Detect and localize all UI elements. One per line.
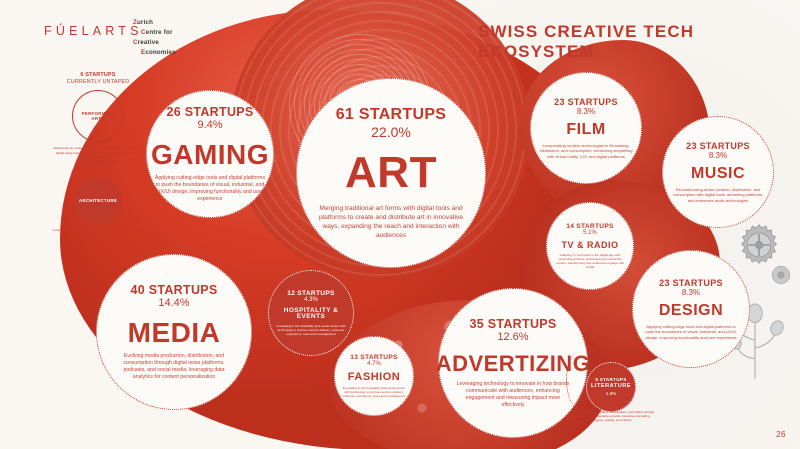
- bubble-percent: 8.3%: [682, 288, 700, 298]
- satellite-caption: 2 STARTUPS 0.7%: [44, 160, 152, 174]
- bubble-label: GAMING: [151, 140, 269, 169]
- bubble-count: 14 STARTUPS: [566, 223, 614, 230]
- satellite-count: 2 STARTUPS: [44, 160, 152, 167]
- bubble-description: Adapting TV and radio to the digital age…: [553, 253, 627, 269]
- satellite-description: Enhancing the creation and presentation …: [44, 146, 152, 159]
- bubble-description: Innovating in the hospitality and events…: [341, 386, 407, 398]
- bubble-art[interactable]: 61 STARTUPS 22.0% ART Merging traditiona…: [296, 78, 486, 268]
- gear-icon: [736, 222, 782, 268]
- satellite-caption: 6 STARTUPS CURRENTLY UNTAPED: [44, 72, 152, 86]
- partner-logo: ZZurichurich Centre for Creative Economi…: [133, 18, 176, 58]
- bubble-description: Innovating in the hospitality and events…: [275, 324, 347, 336]
- bubble-percent: 1.8%: [606, 391, 616, 397]
- slide-header: FÚELARTS ZZurichurich Centre for Creativ…: [0, 0, 800, 56]
- slide-canvas: FÚELARTS ZZurichurich Centre for Creativ…: [0, 0, 800, 449]
- bubble-percent: 4.7%: [367, 361, 381, 369]
- bubble-count: 35 STARTUPS: [469, 317, 556, 331]
- satellite-architecture: 2 STARTUPS 0.7% ARCHITECTURE revolutioni…: [44, 160, 152, 237]
- gear-small-icon: [768, 262, 794, 288]
- bubble-count: 23 STARTUPS: [554, 97, 618, 107]
- bubble-label: ART: [345, 150, 437, 196]
- bubble-count: 40 STARTUPS: [130, 283, 217, 297]
- bubble-label: FILM: [566, 122, 605, 139]
- satellite-bubble-architecture[interactable]: ARCHITECTURE: [75, 178, 121, 224]
- bubble-percent: 22.0%: [371, 124, 411, 142]
- bubble-literature[interactable]: 5 STARTUPS LITERATURE 1.8%: [586, 362, 636, 412]
- bubble-percent: 8.3%: [709, 151, 727, 161]
- bubble-percent: 9.4%: [197, 119, 222, 133]
- bubble-label: LITERATURE: [591, 384, 631, 390]
- bubble-music[interactable]: 23 STARTUPS 8.3% MUSIC Revolutionizing m…: [662, 116, 774, 228]
- satellite-subcaption: CURRENTLY UNTAPED: [44, 79, 152, 86]
- bubble-hospitality-events[interactable]: 12 STARTUPS 4.3% HOSPITALITY & EVENTS In…: [268, 270, 354, 356]
- satellite-subcaption: 0.7%: [44, 167, 152, 174]
- bubble-count: 23 STARTUPS: [686, 141, 750, 151]
- satellite-performing-arts: 6 STARTUPS CURRENTLY UNTAPED PERFORMING …: [44, 72, 152, 159]
- bubble-media[interactable]: 40 STARTUPS 14.4% MEDIA Evolving media p…: [96, 254, 252, 410]
- bubble-label: TV & RADIO: [561, 241, 618, 250]
- bubble-percent: 12.6%: [497, 331, 528, 345]
- satellite-label: PERFORMING ARTS: [77, 111, 119, 122]
- bubble-count: 23 STARTUPS: [659, 278, 723, 288]
- page-title: SWISS CREATIVE TECH ECOSYSTEM: [478, 22, 800, 62]
- satellite-count: 6 STARTUPS: [44, 72, 152, 79]
- bubble-description: Revolutionizing music creation, distribu…: [671, 187, 765, 203]
- bubble-literature-description: Transforming literary creation, dissemin…: [570, 410, 654, 423]
- bubble-film[interactable]: 23 STARTUPS 8.3% FILM Incorporating mode…: [530, 72, 642, 184]
- dotted-accent-arc: [566, 352, 592, 408]
- bubble-percent: 4.3%: [304, 297, 318, 305]
- bubble-label: MUSIC: [691, 166, 745, 183]
- page-number: 26: [776, 430, 786, 439]
- bubble-count: 13 STARTUPS: [350, 354, 398, 361]
- bubble-advertizing[interactable]: 35 STARTUPS 12.6% ADVERTIZING Leveraging…: [438, 288, 588, 438]
- bubble-count: 61 STARTUPS: [336, 106, 447, 124]
- bubble-description: Incorporating modern technologies in fil…: [539, 143, 633, 159]
- bubble-design[interactable]: 23 STARTUPS 8.3% DESIGN Applying cutting…: [632, 250, 750, 368]
- bubble-label: HOSPITALITY & EVENTS: [275, 308, 347, 321]
- bubble-description: Leveraging technology to innovate in how…: [454, 381, 572, 408]
- bubble-description: Merging traditional art forms with digit…: [311, 205, 471, 240]
- bubble-count: 26 STARTUPS: [166, 105, 253, 119]
- bubble-percent: 5.1%: [583, 230, 597, 238]
- satellite-bubble-performing-arts[interactable]: PERFORMING ARTS: [72, 90, 124, 142]
- satellite-description: revolutionize building design, construct…: [44, 228, 152, 237]
- bubble-tv-radio[interactable]: 14 STARTUPS 5.1% TV & RADIO Adapting TV …: [546, 202, 634, 290]
- satellite-label: ARCHITECTURE: [79, 198, 117, 204]
- bubble-label: MEDIA: [128, 318, 221, 347]
- bubble-description: Applying cutting-edge tools and digital …: [153, 175, 267, 202]
- bubble-label: FASHION: [348, 372, 400, 384]
- bubble-percent: 8.3%: [577, 107, 595, 117]
- bubble-description: Evolving media production, distribution,…: [115, 353, 233, 380]
- bubble-label: DESIGN: [659, 303, 723, 320]
- bubble-percent: 14.4%: [158, 297, 189, 311]
- bubble-description: Applying cutting-edge tools and digital …: [644, 324, 738, 340]
- brand-logo: FÚELARTS: [44, 24, 143, 38]
- bubble-count: 5 STARTUPS: [595, 377, 626, 382]
- bubble-fashion[interactable]: 13 STARTUPS 4.7% FASHION Innovating in t…: [334, 336, 414, 416]
- bubble-count: 12 STARTUPS: [287, 290, 335, 297]
- bubble-gaming[interactable]: 26 STARTUPS 9.4% GAMING Applying cutting…: [146, 90, 274, 218]
